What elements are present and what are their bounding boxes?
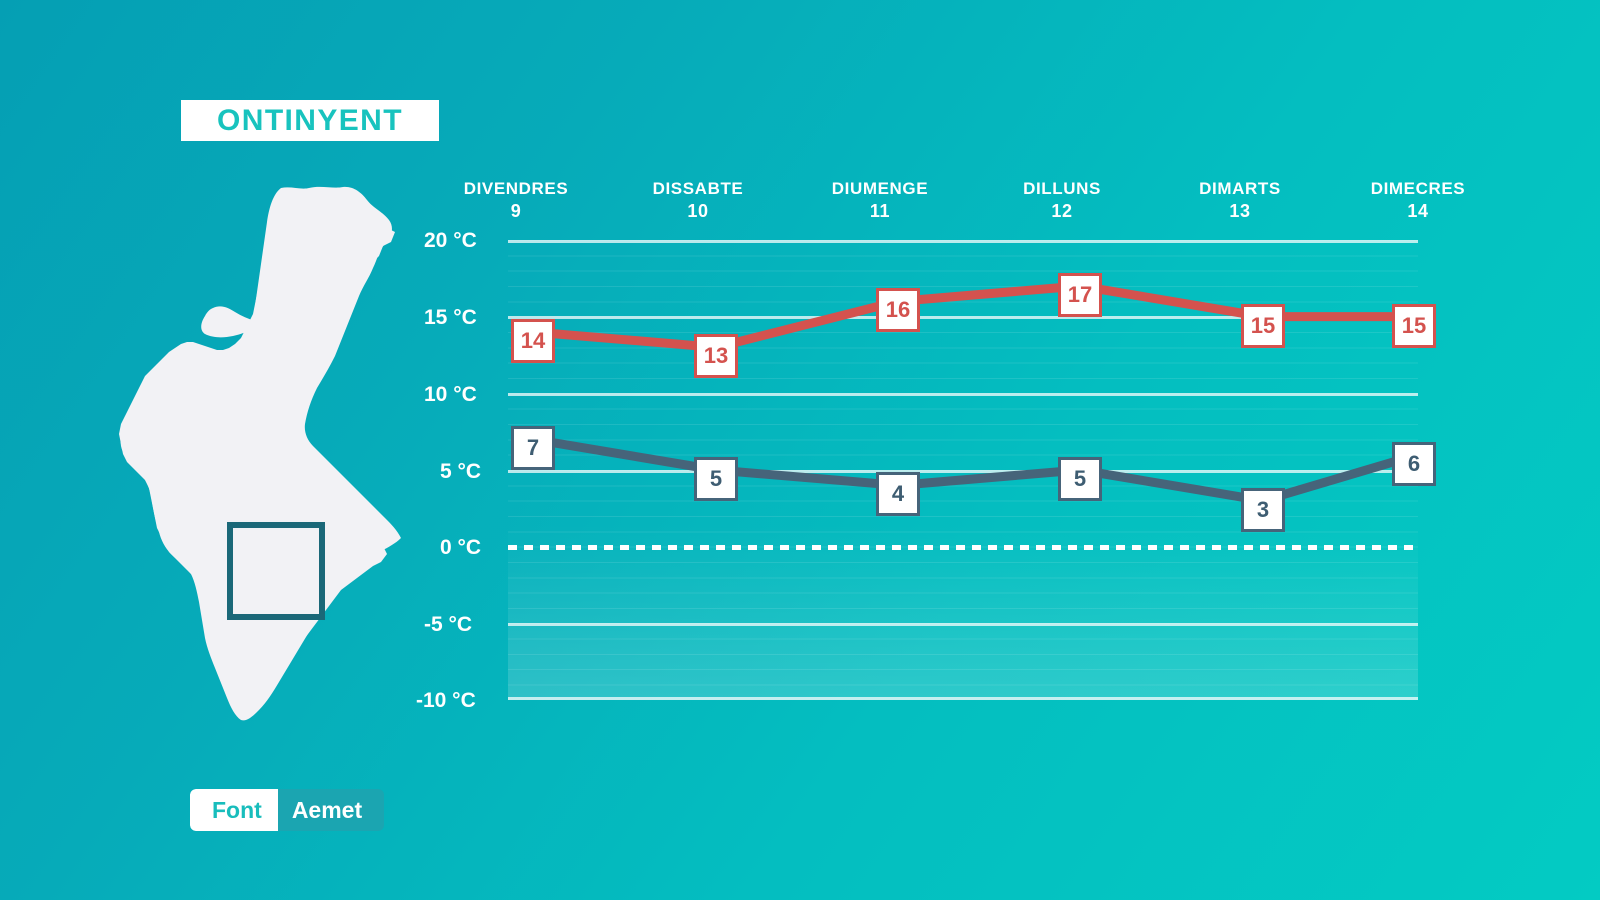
day-header: DIMECRES 14 [1318,178,1518,224]
max-value-badge: 14 [511,319,555,363]
day-date: 14 [1318,200,1518,224]
y-axis-label: 0 °C [440,536,494,560]
y-axis-label: 20 °C [424,229,494,253]
y-axis-label: 5 °C [440,460,494,484]
day-name: DIMARTS [1199,179,1281,198]
source-badge: Font Aemet [190,789,384,831]
min-value-badge: 5 [1058,457,1102,501]
y-axis-label: -5 °C [424,613,494,637]
y-axis-label: 15 °C [424,306,494,330]
source-label: Font [190,789,278,831]
day-header: DIUMENGE 11 [780,178,980,224]
max-value-badge: 16 [876,288,920,332]
y-axis-label: 10 °C [424,383,494,407]
day-name: DILLUNS [1023,179,1101,198]
min-value-badge: 3 [1241,488,1285,532]
day-name: DIVENDRES [464,179,569,198]
day-date: 11 [780,200,980,224]
max-value-badge: 15 [1392,304,1436,348]
min-value-badge: 5 [694,457,738,501]
day-name: DIUMENGE [832,179,928,198]
min-value-badge: 7 [511,426,555,470]
day-name: DISSABTE [653,179,744,198]
source-provider: Aemet [278,789,384,831]
min-temperature-line [533,439,1418,500]
day-header: DILLUNS 12 [962,178,1162,224]
day-header: DISSABTE 10 [598,178,798,224]
max-value-badge: 15 [1241,304,1285,348]
max-value-badge: 13 [694,334,738,378]
day-header: DIMARTS 13 [1140,178,1340,224]
min-value-badge: 4 [876,472,920,516]
day-header: DIVENDRES 9 [416,178,616,224]
max-temperature-line [533,286,1418,347]
min-value-badge: 6 [1392,442,1436,486]
day-date: 10 [598,200,798,224]
max-value-badge: 17 [1058,273,1102,317]
temperature-chart: DIVENDRES 9 DISSABTE 10 DIUMENGE 11 DILL… [0,0,1600,900]
day-date: 13 [1140,200,1340,224]
day-date: 9 [416,200,616,224]
day-name: DIMECRES [1371,179,1466,198]
day-date: 12 [962,200,1162,224]
y-axis-label: -10 °C [416,689,494,713]
